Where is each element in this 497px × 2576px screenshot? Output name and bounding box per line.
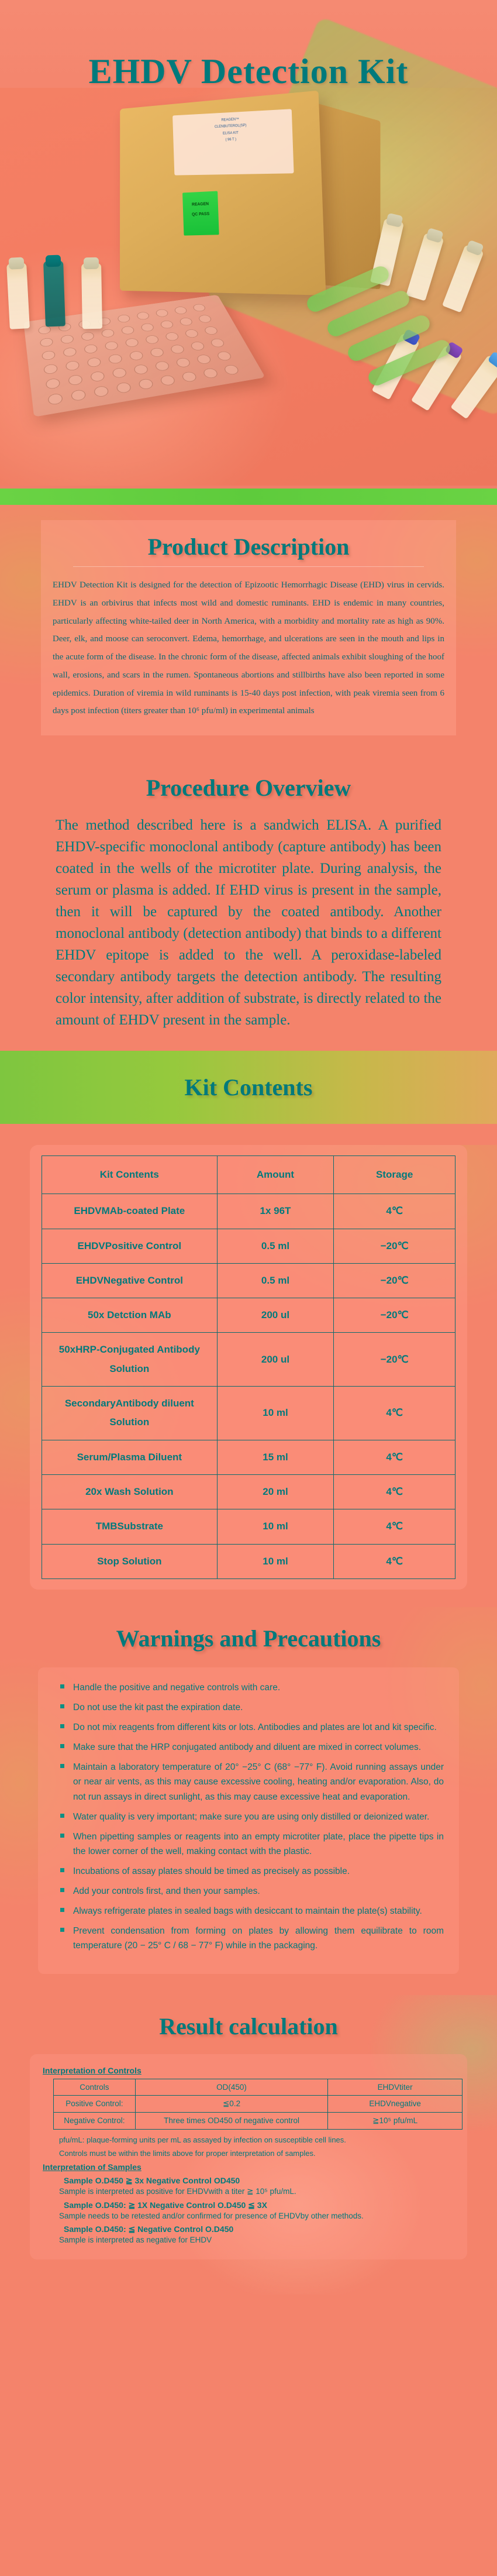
controls-limits-note: Controls must be within the limits above…	[59, 2148, 454, 2160]
pfu-definition-note: pfu/mL: plaque-forming units per mL as a…	[59, 2134, 454, 2147]
table-row: SecondaryAntibody diluent Solution 10 ml…	[42, 1387, 455, 1440]
table-row: Negative Control: Three times OD450 of n…	[54, 2112, 463, 2129]
kit-product-photo: REAGEN™ CLENBUTEROL(SP) ELISA KIT ( 96 T…	[0, 88, 497, 486]
column-header-amount: Amount	[217, 1156, 334, 1194]
photo-vial	[81, 263, 102, 329]
column-header-controls: Controls	[54, 2079, 136, 2095]
controls-interpretation-table: Controls OD(450) EHDVtiter Positive Cont…	[53, 2079, 463, 2130]
photo-qc-text: QC PASS	[183, 209, 219, 221]
list-item: Handle the positive and negative control…	[53, 1680, 444, 1695]
table-row: 50xHRP-Conjugated Antibody Solution 200 …	[42, 1333, 455, 1387]
column-header-ehdv-titer: EHDVtiter	[328, 2079, 463, 2095]
table-row: EHDVMAb-coated Plate 1x 96T 4℃	[42, 1194, 455, 1229]
product-description-card: Product Description EHDV Detection Kit i…	[41, 520, 456, 735]
cell-name: TMBSubstrate	[42, 1509, 218, 1544]
list-item: Always refrigerate plates in sealed bags…	[53, 1904, 444, 1918]
cell-storage: −20℃	[334, 1298, 455, 1333]
kit-contents-section: Kit Contents Amount Storage EHDVMAb-coat…	[0, 1145, 497, 1607]
column-header-kit-contents: Kit Contents	[42, 1156, 218, 1194]
table-header-row: Kit Contents Amount Storage	[42, 1156, 455, 1194]
kit-contents-banner: Kit Contents	[0, 1051, 497, 1124]
cell-amount: 0.5 ml	[217, 1229, 334, 1263]
result-calculation-heading: Result calculation	[0, 2013, 497, 2040]
cell-name: 20x Wash Solution	[42, 1474, 218, 1509]
cell-storage: 4℃	[334, 1440, 455, 1474]
list-item: Prevent condensation from forming on pla…	[53, 1924, 444, 1953]
sample-rule: Sample O.D450 ≧ 3x Negative Control OD45…	[64, 2176, 454, 2186]
kit-contents-heading: Kit Contents	[185, 1074, 313, 1101]
result-calculation-section: Result calculation Interpretation of Con…	[0, 1995, 497, 2295]
cell-name: SecondaryAntibody diluent Solution	[42, 1387, 218, 1440]
warnings-card: Handle the positive and negative control…	[38, 1667, 459, 1974]
table-row: EHDVPositive Control 0.5 ml −20℃	[42, 1229, 455, 1263]
product-description-section: Product Description EHDV Detection Kit i…	[0, 505, 497, 758]
cell-control: Positive Control:	[54, 2095, 136, 2112]
cell-name: 50x Detction MAb	[42, 1298, 218, 1333]
table-header-row: Controls OD(450) EHDVtiter	[54, 2079, 463, 2095]
product-page: EHDV Detection Kit REAGEN™ CLENBUTEROL(S…	[0, 0, 497, 2295]
product-description-body: EHDV Detection Kit is designed for the d…	[47, 576, 450, 720]
procedure-overview-body: The method described here is a sandwich …	[56, 814, 441, 1031]
cell-amount: 10 ml	[217, 1387, 334, 1440]
sample-rule: Sample O.D450: ≧ 1X Negative Control O.D…	[64, 2200, 454, 2210]
cell-titer: EHDVnegative	[328, 2095, 463, 2112]
table-row: 20x Wash Solution 20 ml 4℃	[42, 1474, 455, 1509]
photo-qc-sticker: REAGEN QC PASS	[182, 191, 219, 236]
cell-titer: ≧10⁵ pfu/mL	[328, 2112, 463, 2129]
cell-od: ≦0.2	[135, 2095, 327, 2112]
list-item: Do not use the kit past the expiration d…	[53, 1700, 444, 1715]
procedure-overview-heading: Procedure Overview	[0, 774, 497, 802]
table-row: Stop Solution 10 ml 4℃	[42, 1544, 455, 1578]
sample-rule: Sample O.D450: ≦ Negative Control O.D450	[64, 2224, 454, 2234]
list-item: Incubations of assay plates should be ti…	[53, 1864, 444, 1879]
cell-name: Serum/Plasma Diluent	[42, 1440, 218, 1474]
list-item: Water quality is very important; make su…	[53, 1810, 444, 1824]
table-row: 50x Detction MAb 200 ul −20℃	[42, 1298, 455, 1333]
cell-storage: −20℃	[334, 1263, 455, 1298]
photo-box-label: REAGEN™ CLENBUTEROL(SP) ELISA KIT ( 96 T…	[172, 109, 294, 175]
list-item: Maintain a laboratory temperature of 20°…	[53, 1760, 444, 1804]
list-item: Do not mix reagents from different kits …	[53, 1720, 444, 1735]
green-divider-band	[0, 489, 497, 505]
list-item: Make sure that the HRP conjugated antibo…	[53, 1740, 444, 1755]
table-row: EHDVNegative Control 0.5 ml −20℃	[42, 1263, 455, 1298]
cell-amount: 0.5 ml	[217, 1263, 334, 1298]
cell-storage: 4℃	[334, 1509, 455, 1544]
column-header-od450: OD(450)	[135, 2079, 327, 2095]
cell-name: 50xHRP-Conjugated Antibody Solution	[42, 1333, 218, 1387]
photo-vial	[43, 260, 65, 326]
sample-meaning: Sample needs to be retested and/or confi…	[59, 2212, 454, 2220]
cell-amount: 10 ml	[217, 1544, 334, 1578]
kit-contents-table-card: Kit Contents Amount Storage EHDVMAb-coat…	[30, 1145, 467, 1590]
hero-section: EHDV Detection Kit REAGEN™ CLENBUTEROL(S…	[0, 0, 497, 489]
list-item: Add your controls first, and then your s…	[53, 1884, 444, 1899]
column-header-storage: Storage	[334, 1156, 455, 1194]
interpretation-of-controls-subheading: Interpretation of Controls	[43, 2066, 454, 2075]
table-row: Positive Control: ≦0.2 EHDVnegative	[54, 2095, 463, 2112]
cell-storage: −20℃	[334, 1229, 455, 1263]
warnings-heading: Warnings and Precautions	[0, 1625, 497, 1652]
result-calculation-card: Interpretation of Controls Controls OD(4…	[30, 2054, 467, 2260]
warnings-section: Warnings and Precautions Handle the posi…	[0, 1607, 497, 1995]
sample-meaning: Sample is interpreted as negative for EH…	[59, 2235, 454, 2244]
cell-name: EHDVPositive Control	[42, 1229, 218, 1263]
cell-name: Stop Solution	[42, 1544, 218, 1578]
cell-amount: 200 ul	[217, 1298, 334, 1333]
interpretation-of-samples-subheading: Interpretation of Samples	[43, 2162, 454, 2172]
cell-amount: 15 ml	[217, 1440, 334, 1474]
cell-storage: 4℃	[334, 1544, 455, 1578]
procedure-overview-section: Procedure Overview The method described …	[0, 758, 497, 1051]
cell-control: Negative Control:	[54, 2112, 136, 2129]
page-title: EHDV Detection Kit	[0, 51, 497, 92]
cell-name: EHDVMAb-coated Plate	[42, 1194, 218, 1229]
sample-meaning: Sample is interpreted as positive for EH…	[59, 2187, 454, 2196]
cell-od: Three times OD450 of negative control	[135, 2112, 327, 2129]
list-item: When pipetting samples or reagents into …	[53, 1829, 444, 1859]
table-row: Serum/Plasma Diluent 15 ml 4℃	[42, 1440, 455, 1474]
product-description-heading: Product Description	[47, 533, 450, 560]
cell-storage: 4℃	[334, 1387, 455, 1440]
cell-storage: 4℃	[334, 1474, 455, 1509]
cell-amount: 20 ml	[217, 1474, 334, 1509]
cell-storage: −20℃	[334, 1333, 455, 1387]
heading-rule	[73, 566, 424, 567]
cell-storage: 4℃	[334, 1194, 455, 1229]
table-row: TMBSubstrate 10 ml 4℃	[42, 1509, 455, 1544]
cell-amount: 1x 96T	[217, 1194, 334, 1229]
cell-amount: 10 ml	[217, 1509, 334, 1544]
cell-amount: 200 ul	[217, 1333, 334, 1387]
kit-contents-table: Kit Contents Amount Storage EHDVMAb-coat…	[42, 1155, 455, 1579]
photo-vial	[6, 263, 30, 329]
warnings-list: Handle the positive and negative control…	[53, 1680, 444, 1954]
cell-name: EHDVNegative Control	[42, 1263, 218, 1298]
